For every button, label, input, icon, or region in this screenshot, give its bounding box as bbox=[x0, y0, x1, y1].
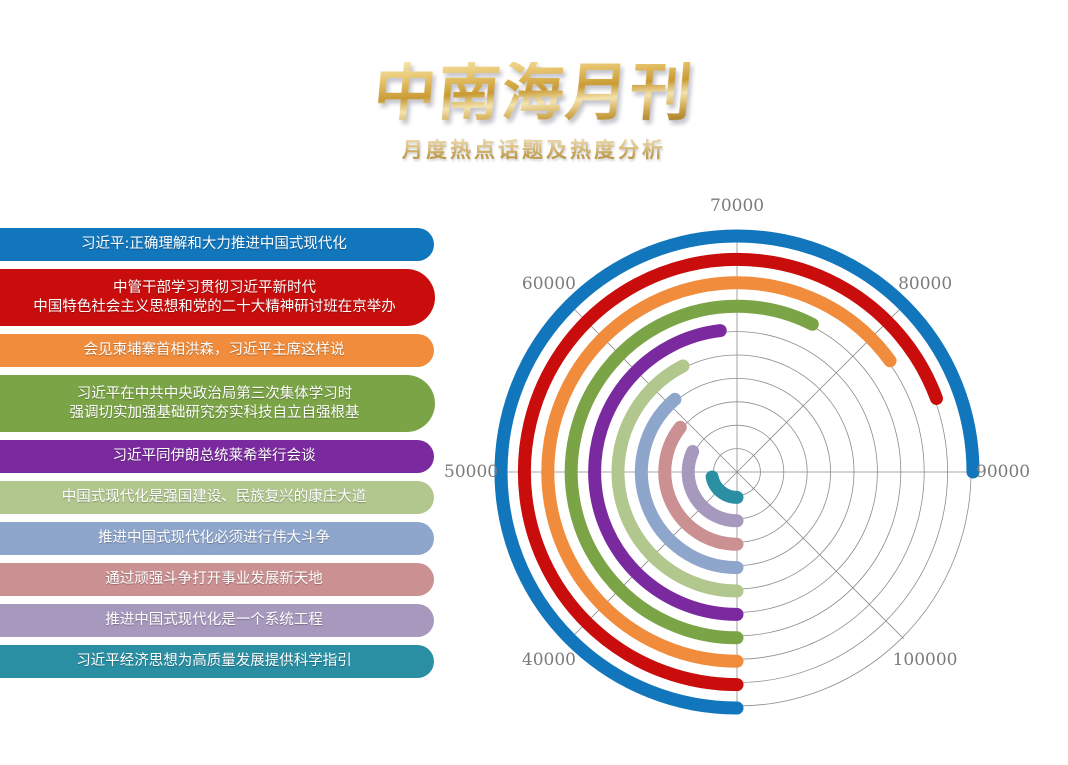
legend-item-7[interactable]: 通过顽强斗争打开事业发展新天地 bbox=[0, 563, 434, 596]
legend-item-label: 推进中国式现代化必须进行伟大斗争 bbox=[98, 529, 330, 548]
axis-tick-90000: 90000 bbox=[976, 462, 1030, 482]
legend-item-label: 习近平经济思想为高质量发展提供科学指引 bbox=[76, 652, 352, 671]
radial-bar-7[interactable] bbox=[665, 427, 737, 544]
axis-tick-70000: 70000 bbox=[710, 196, 764, 216]
legend-item-0[interactable]: 习近平:正确理解和大力推进中国式现代化 bbox=[0, 228, 434, 261]
grid-spoke bbox=[737, 472, 904, 639]
legend-item-1[interactable]: 中管干部学习贯彻习近平新时代 中国特色社会主义思想和党的二十大精神研讨班在京举办 bbox=[0, 269, 435, 326]
axis-tick-80000: 80000 bbox=[898, 274, 952, 294]
legend-item-label: 习近平在中共中央政治局第三次集体学习时 强调切实加强基础研究夯实科技自立自强根基 bbox=[70, 385, 360, 423]
legend-item-label: 会见柬埔寨首相洪森，习近平主席这样说 bbox=[84, 341, 345, 360]
legend-item-label: 中管干部学习贯彻习近平新时代 中国特色社会主义思想和党的二十大精神研讨班在京举办 bbox=[33, 279, 396, 317]
axis-tick-40000: 40000 bbox=[522, 650, 576, 670]
header: 中南海月刊 月度热点话题及热度分析 bbox=[0, 62, 1068, 164]
legend-item-5[interactable]: 中国式现代化是强国建设、民族复兴的康庄大道 bbox=[0, 481, 434, 514]
axis-tick-60000: 60000 bbox=[522, 274, 576, 294]
grid-spoke bbox=[737, 305, 904, 472]
legend-item-3[interactable]: 习近平在中共中央政治局第三次集体学习时 强调切实加强基础研究夯实科技自立自强根基 bbox=[0, 375, 435, 432]
legend-item-label: 习近平:正确理解和大力推进中国式现代化 bbox=[81, 235, 347, 254]
page-title: 中南海月刊 bbox=[371, 62, 696, 124]
radial-bar-chart: 400005000060000700008000090000100000 bbox=[440, 190, 1068, 750]
legend-item-2[interactable]: 会见柬埔寨首相洪森，习近平主席这样说 bbox=[0, 334, 434, 367]
legend-item-4[interactable]: 习近平同伊朗总统莱希举行会谈 bbox=[0, 440, 434, 473]
legend-item-label: 通过顽强斗争打开事业发展新天地 bbox=[105, 570, 323, 589]
legend-item-8[interactable]: 推进中国式现代化是一个系统工程 bbox=[0, 604, 434, 637]
axis-tick-50000: 50000 bbox=[444, 462, 498, 482]
axis-tick-100000: 100000 bbox=[893, 650, 958, 670]
legend-item-label: 中国式现代化是强国建设、民族复兴的康庄大道 bbox=[62, 488, 367, 507]
legend-item-label: 习近平同伊朗总统莱希举行会谈 bbox=[113, 447, 316, 466]
radial-bar-9[interactable] bbox=[712, 477, 737, 497]
legend-item-9[interactable]: 习近平经济思想为高质量发展提供科学指引 bbox=[0, 645, 434, 678]
infographic-canvas: 中南海月刊 月度热点话题及热度分析 习近平:正确理解和大力推进中国式现代化中管干… bbox=[0, 0, 1068, 765]
legend-item-6[interactable]: 推进中国式现代化必须进行伟大斗争 bbox=[0, 522, 434, 555]
page-subtitle: 月度热点话题及热度分析 bbox=[402, 134, 666, 164]
legend-item-label: 推进中国式现代化是一个系统工程 bbox=[105, 611, 323, 630]
